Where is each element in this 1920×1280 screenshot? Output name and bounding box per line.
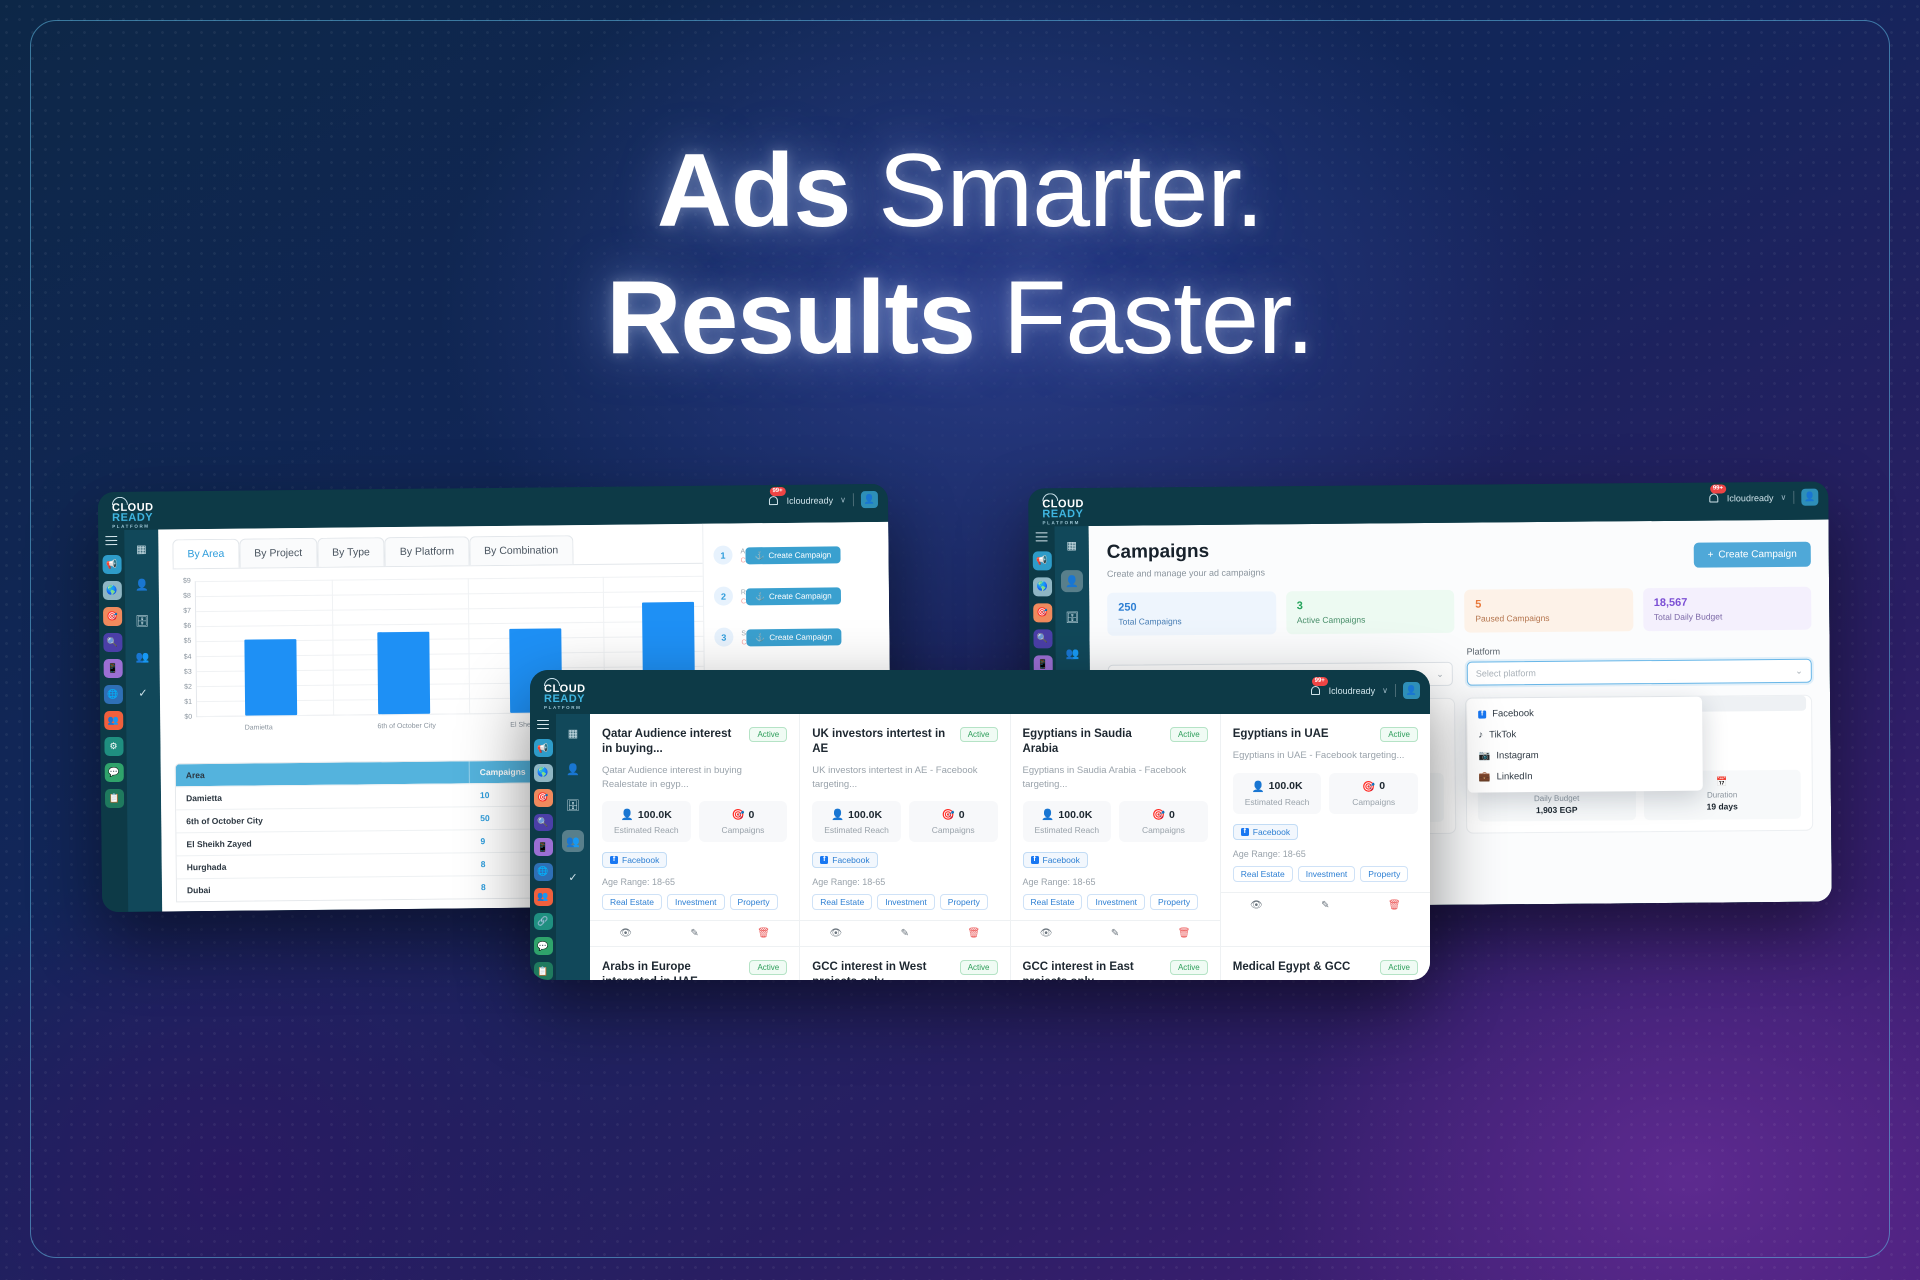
reach-value: 100.0K xyxy=(1269,780,1303,792)
suggestion-row: 2RCPL: $2.80-$4.20⚓Create Campaign xyxy=(714,585,879,606)
audience-tag[interactable]: Real Estate xyxy=(602,894,662,910)
sidebar-icon-audience-3[interactable]: 👥 xyxy=(534,888,553,906)
reach-value: 100.0K xyxy=(1058,809,1092,821)
y-tick-label: $4 xyxy=(184,653,192,660)
sidebar-icon-campaigns-3[interactable]: 📢 xyxy=(534,739,553,757)
audience-campaigns-stat: 🎯0Campaigns xyxy=(1329,773,1418,814)
audience-cards-row-1: Qatar Audience interest in buying...Acti… xyxy=(590,714,1430,946)
audiences-topbar: CLOUD READY PLATFORM 99+ Icloudready ∨ 👤 xyxy=(530,670,1430,714)
facebook-icon: f xyxy=(1478,710,1486,718)
status-badge: Active xyxy=(1380,727,1418,742)
audience-age-range: Age Range: 18-65 xyxy=(1233,849,1418,859)
platform-select[interactable]: Select platform ⌄ xyxy=(1467,659,1812,686)
view-icon[interactable]: 👁 xyxy=(619,928,632,939)
chevron-down-icon-platform: ⌄ xyxy=(1795,665,1803,676)
delete-icon[interactable]: 🗑 xyxy=(968,928,981,939)
rocket-icon: ⚓ xyxy=(755,592,765,601)
create-campaign-label: Create Campaign xyxy=(768,550,831,560)
audience-tag[interactable]: Real Estate xyxy=(812,894,872,910)
audience-title: Egyptians in Saudia Arabia xyxy=(1023,727,1164,757)
audience-platform-label: Facebook xyxy=(1043,855,1080,865)
campaigns-value: 0 xyxy=(1379,780,1385,792)
sidebar-icon-chat-3[interactable]: 💬 xyxy=(534,937,553,955)
status-badge: Active xyxy=(1170,960,1208,975)
campaigns-label: Campaigns xyxy=(913,825,994,835)
person-icon: 👤 xyxy=(1041,808,1054,821)
avatar-3[interactable]: 👤 xyxy=(1403,682,1420,699)
platform-option-label: Instagram xyxy=(1496,750,1538,761)
tiktok-icon: ♪ xyxy=(1478,730,1483,741)
chart-bar[interactable] xyxy=(245,639,298,716)
nav-icon-campaigns[interactable]: 👤 xyxy=(131,574,153,596)
stat-total-daily-budget: 18,567 Total Daily Budget xyxy=(1643,587,1812,631)
sidebar-icon-globe-3[interactable]: 🌐 xyxy=(534,863,553,881)
audience-title: Qatar Audience interest in buying... xyxy=(602,727,743,757)
person-icon: 👤 xyxy=(1252,780,1265,793)
plus-icon: + xyxy=(1708,550,1714,561)
table-cell: Hurghada xyxy=(177,853,471,878)
nav-icon-approvals[interactable]: ✓ xyxy=(132,682,154,704)
sidebar-icon-ads-3[interactable]: 🎯 xyxy=(534,789,553,807)
stat-label-budget: Total Daily Budget xyxy=(1654,611,1801,622)
platform-option-linkedin[interactable]: 💼LinkedIn xyxy=(1468,765,1703,788)
audience-description: UK investors intertest in AE - Facebook … xyxy=(812,764,997,791)
stat-paused-campaigns: 5 Paused Campaigns xyxy=(1464,588,1633,632)
reach-label: Estimated Reach xyxy=(1237,797,1318,807)
account-name-2: Icloudready xyxy=(1727,492,1774,502)
audience-card[interactable]: Arabs in Europe interested in UAE...Acti… xyxy=(590,947,800,980)
reach-value: 100.0K xyxy=(848,809,882,821)
audience-campaigns-stat: 🎯0Campaigns xyxy=(699,801,788,842)
audience-title: GCC interest in East projects only xyxy=(1023,960,1164,980)
reach-label: Estimated Reach xyxy=(1027,825,1108,835)
nav-icon-approvals-3[interactable]: ✓ xyxy=(562,866,584,888)
audience-tag[interactable]: Property xyxy=(1150,894,1198,910)
audience-reach-stat: 👤100.0KEstimated Reach xyxy=(812,801,901,842)
edit-icon[interactable]: ✎ xyxy=(1111,928,1119,939)
stat-value-paused: 5 xyxy=(1475,597,1622,610)
y-tick-label: $6 xyxy=(183,623,191,630)
sidebar-icon-reports[interactable]: 📋 xyxy=(104,789,123,808)
sidebar-icon-insights-3[interactable]: 🌎 xyxy=(534,764,553,782)
notification-bell-icon[interactable]: 99+ xyxy=(768,494,779,507)
audience-title: GCC interest in West projects only xyxy=(812,960,953,980)
table-cell: Dubai xyxy=(177,876,471,901)
chevron-down-icon[interactable]: ∨ xyxy=(840,495,846,504)
facebook-icon: f xyxy=(820,856,828,864)
delete-icon[interactable]: 🗑 xyxy=(1388,900,1401,911)
divider xyxy=(853,493,854,506)
x-tick-label: Damietta xyxy=(245,724,273,731)
analytics-topbar-right: 99+ Icloudready ∨ 👤 xyxy=(768,491,878,509)
nav-icon-campaigns-2[interactable]: 👤 xyxy=(1061,570,1083,592)
audience-card[interactable]: Qatar Audience interest in buying...Acti… xyxy=(590,714,800,946)
instagram-icon: 📷 xyxy=(1478,750,1490,761)
audience-description: Egyptians in Saudia Arabia - Facebook ta… xyxy=(1023,764,1208,791)
rocket-icon: ⚓ xyxy=(755,633,765,642)
status-badge: Active xyxy=(960,727,998,742)
suggestion-number: 2 xyxy=(714,587,733,606)
campaigns-label: Campaigns xyxy=(703,825,784,835)
audience-title: Arabs in Europe interested in UAE... xyxy=(602,960,743,980)
view-icon[interactable]: 👁 xyxy=(829,928,842,939)
suggestion-row: 1ACPL: $3.20-$4.05⚓Create Campaign xyxy=(713,544,878,565)
primary-sidebar-3: 📢 🌎 🎯 🔍 📱 🌐 👥 🔗 💬 📋 xyxy=(530,714,556,980)
stat-total-campaigns: 250 Total Campaigns xyxy=(1107,591,1276,635)
audience-platform-label: Facebook xyxy=(832,855,869,865)
sidebar-icon-settings[interactable]: ⚙ xyxy=(104,737,123,756)
audience-platform-chip: fFacebook xyxy=(1023,852,1088,868)
campaigns-value: 0 xyxy=(959,809,965,821)
avatar-2[interactable]: 👤 xyxy=(1801,489,1818,506)
create-campaign-button[interactable]: + Create Campaign xyxy=(1693,542,1810,568)
platform-option-tiktok[interactable]: ♪TikTok xyxy=(1467,723,1702,746)
logo-line-2-b: READY xyxy=(1042,509,1098,519)
sidebar-icon-chat[interactable]: 💬 xyxy=(104,763,123,782)
audience-reach-stat: 👤100.0KEstimated Reach xyxy=(1023,801,1112,842)
status-badge: Active xyxy=(1380,960,1418,975)
audience-platform-label: Facebook xyxy=(622,855,659,865)
stat-value-active: 3 xyxy=(1297,599,1444,612)
sidebar-icon-insights-2[interactable]: 🌎 xyxy=(1032,577,1051,596)
tab-by-combination[interactable]: By Combination xyxy=(469,535,573,565)
notification-bell-icon-3[interactable]: 99+ xyxy=(1311,684,1322,697)
y-tick-label: $0 xyxy=(184,714,192,721)
reach-label: Estimated Reach xyxy=(816,825,897,835)
hero-headline: Ads Smarter. Results Faster. xyxy=(0,128,1920,382)
edit-icon[interactable]: ✎ xyxy=(1321,900,1329,911)
edit-icon[interactable]: ✎ xyxy=(901,928,909,939)
audience-card[interactable]: Medical Egypt & GCCActiveMedical Egypt &… xyxy=(1221,947,1430,980)
sidebar-icon-campaigns-2[interactable]: 📢 xyxy=(1032,551,1051,570)
platform-option-label: TikTok xyxy=(1489,729,1516,740)
audiences-content: Qatar Audience interest in buying...Acti… xyxy=(590,714,1430,980)
audience-tag[interactable]: Real Estate xyxy=(1233,866,1293,882)
secondary-sidebar-3: ▦ 👤 🗄 👥 ✓ xyxy=(556,714,590,980)
audience-tag[interactable]: Investment xyxy=(1298,866,1356,882)
y-tick-label: $8 xyxy=(183,593,191,600)
tab-by-type[interactable]: By Type xyxy=(317,537,385,567)
duration-label: Duration xyxy=(1649,790,1795,800)
stat-active-campaigns: 3 Active Campaigns xyxy=(1286,590,1455,634)
audience-cards-row-2: Arabs in Europe interested in UAE...Acti… xyxy=(590,946,1430,980)
suggestion-number: 3 xyxy=(714,628,733,647)
nav-icon-audiences-2[interactable]: 👥 xyxy=(1062,642,1084,664)
audience-title: UK investors intertest in AE xyxy=(812,727,953,757)
table-cell: Damietta xyxy=(176,784,470,809)
create-campaign-button[interactable]: ⚓Create Campaign xyxy=(746,587,841,605)
primary-sidebar: 📢 🌎 🎯 🔍 📱 🌐 👥 ⚙ 💬 📋 xyxy=(98,530,128,912)
audience-card[interactable]: GCC interest in East projects onlyActive… xyxy=(1011,947,1221,980)
chevron-down-icon-status: ⌄ xyxy=(1436,668,1444,679)
stat-label-paused: Paused Campaigns xyxy=(1475,612,1622,623)
sidebar-icon-campaigns[interactable]: 📢 xyxy=(102,555,121,574)
person-icon: 👤 xyxy=(621,808,634,821)
audience-tag[interactable]: Real Estate xyxy=(1023,894,1083,910)
logo-line-3-c: PLATFORM xyxy=(544,704,600,711)
audience-tag[interactable]: Investment xyxy=(667,894,725,910)
nav-icon-dashboard[interactable]: ▦ xyxy=(130,538,152,560)
nav-icon-audiences[interactable]: 👥 xyxy=(131,646,153,668)
facebook-icon: f xyxy=(610,856,618,864)
logo-line-2: READY xyxy=(112,512,168,523)
headline-line-1: Ads Smarter. xyxy=(0,128,1920,255)
audience-platform-chip: fFacebook xyxy=(1233,824,1298,840)
delete-icon[interactable]: 🗑 xyxy=(1178,928,1191,939)
y-tick-label: $3 xyxy=(184,668,192,675)
notification-badge-2: 99+ xyxy=(1710,484,1726,493)
audience-tag[interactable]: Property xyxy=(1360,866,1408,882)
facebook-icon: f xyxy=(1241,828,1249,836)
logo-line-2-c: READY xyxy=(544,694,600,704)
menu-toggle-icon-3[interactable] xyxy=(537,720,549,729)
headline-bold-1: Ads xyxy=(657,133,850,249)
audience-card[interactable]: GCC interest in West projects onlyActive… xyxy=(800,947,1010,980)
create-campaign-button[interactable]: ⚓Create Campaign xyxy=(746,628,841,646)
audience-age-range: Age Range: 18-65 xyxy=(812,877,997,887)
audience-platform-label: Facebook xyxy=(1253,827,1290,837)
audience-age-range: Age Range: 18-65 xyxy=(1023,877,1208,887)
status-badge: Active xyxy=(1170,727,1208,742)
status-badge: Active xyxy=(749,727,787,742)
platform-option-label: LinkedIn xyxy=(1497,771,1533,782)
menu-toggle-icon[interactable] xyxy=(105,536,117,545)
delete-icon[interactable]: 🗑 xyxy=(757,928,770,939)
sidebar-icon-globe[interactable]: 🌐 xyxy=(103,685,122,704)
audiences-window: CLOUD READY PLATFORM 99+ Icloudready ∨ 👤… xyxy=(530,670,1430,980)
audience-tag[interactable]: Property xyxy=(940,894,988,910)
y-tick-label: $1 xyxy=(184,699,192,706)
platform-filter: Platform Select platform ⌄ fFacebook♪Tik… xyxy=(1467,644,1812,686)
notification-bell-icon-2[interactable]: 99+ xyxy=(1709,491,1720,504)
chevron-down-icon-2[interactable]: ∨ xyxy=(1780,493,1786,502)
daily-budget-label: Daily Budget xyxy=(1484,793,1630,803)
platform-dropdown[interactable]: fFacebook♪TikTok📷Instagram💼LinkedIn xyxy=(1467,697,1703,793)
audience-tag[interactable]: Property xyxy=(730,894,778,910)
col-header-area: Area xyxy=(176,761,470,786)
stat-label-active: Active Campaigns xyxy=(1297,614,1444,625)
status-filter-label xyxy=(1108,647,1453,660)
headline-bold-2: Results xyxy=(606,260,975,376)
target-icon: 🎯 xyxy=(731,808,744,821)
audience-card[interactable]: Egyptians in Saudia ArabiaActiveEgyptian… xyxy=(1011,714,1221,946)
linkedin-icon: 💼 xyxy=(1479,771,1491,782)
chart-y-axis: $9$8$7$6$5$4$3$2$1$0 xyxy=(173,581,194,717)
campaigns-label: Campaigns xyxy=(1123,825,1204,835)
suggestion-number: 1 xyxy=(713,546,732,565)
stat-value-total: 250 xyxy=(1118,600,1265,613)
secondary-sidebar: ▦ 👤 🗄 👥 ✓ xyxy=(124,530,162,912)
audience-card[interactable]: UK investors intertest in AEActiveUK inv… xyxy=(800,714,1010,946)
view-icon[interactable]: 👁 xyxy=(1040,928,1053,939)
sidebar-icon-insights[interactable]: 🌎 xyxy=(102,581,121,600)
table-cell: El Sheikh Zayed xyxy=(176,830,470,855)
audience-title: Medical Egypt & GCC xyxy=(1233,960,1351,975)
app-logo-3[interactable]: CLOUD READY PLATFORM xyxy=(544,678,600,711)
account-name-3: Icloudready xyxy=(1329,686,1376,696)
nav-icon-audiences-3[interactable]: 👥 xyxy=(562,830,584,852)
y-tick-label: $5 xyxy=(184,638,192,645)
sidebar-icon-mobile-3[interactable]: 📱 xyxy=(534,838,553,856)
campaign-stats: 250 Total Campaigns 3 Active Campaigns 5… xyxy=(1107,587,1811,636)
platform-filter-label: Platform xyxy=(1467,644,1812,657)
campaigns-label: Campaigns xyxy=(1333,797,1414,807)
tab-by-platform[interactable]: By Platform xyxy=(385,536,470,566)
y-tick-label: $9 xyxy=(183,578,191,585)
audience-reach-stat: 👤100.0KEstimated Reach xyxy=(1233,773,1322,814)
edit-icon[interactable]: ✎ xyxy=(690,928,698,939)
nav-icon-dashboard-3[interactable]: ▦ xyxy=(562,722,584,744)
app-logo[interactable]: CLOUD READY PLATFORM xyxy=(112,496,168,530)
facebook-icon: f xyxy=(1031,856,1039,864)
nav-icon-campaigns-3[interactable]: 👤 xyxy=(562,758,584,780)
reach-value: 100.0K xyxy=(638,809,672,821)
sidebar-icon-search-3[interactable]: 🔍 xyxy=(534,814,553,832)
campaigns-value: 0 xyxy=(749,809,755,821)
nav-icon-dashboard-2[interactable]: ▦ xyxy=(1061,534,1083,556)
stat-label-total: Total Campaigns xyxy=(1118,615,1265,626)
audience-platform-chip: fFacebook xyxy=(812,852,877,868)
sidebar-icon-ads-2[interactable]: 🎯 xyxy=(1033,603,1052,622)
divider-2 xyxy=(1793,491,1794,504)
person-icon: 👤 xyxy=(831,808,844,821)
audience-reach-stat: 👤100.0KEstimated Reach xyxy=(602,801,691,842)
create-campaign-button[interactable]: ⚓Create Campaign xyxy=(745,546,840,564)
platform-option-label: Facebook xyxy=(1492,708,1534,719)
status-badge: Active xyxy=(749,960,787,975)
sidebar-icon-mobile[interactable]: 📱 xyxy=(103,659,122,678)
chart-bar[interactable] xyxy=(377,632,430,714)
stat-value-budget: 18,567 xyxy=(1654,596,1801,609)
nav-icon-list-2[interactable]: 🗄 xyxy=(1061,606,1083,628)
platform-option-facebook[interactable]: fFacebook xyxy=(1467,702,1702,725)
sidebar-icon-ads[interactable]: 🎯 xyxy=(103,607,122,626)
chevron-down-icon-3[interactable]: ∨ xyxy=(1382,686,1388,695)
y-tick-label: $2 xyxy=(184,683,192,690)
campaigns-topbar-right: 99+ Icloudready ∨ 👤 xyxy=(1709,489,1819,507)
headline-rest-1: Smarter. xyxy=(850,133,1263,249)
status-badge: Active xyxy=(960,960,998,975)
table-cell: 6th of October City xyxy=(176,807,470,832)
menu-toggle-icon-2[interactable] xyxy=(1036,532,1048,541)
create-campaign-label: Create Campaign xyxy=(769,591,832,601)
sidebar-icon-audience[interactable]: 👥 xyxy=(104,711,123,730)
divider-3 xyxy=(1395,684,1396,697)
audience-description: Egyptians in UAE - Facebook targeting... xyxy=(1233,749,1418,763)
tab-by-project[interactable]: By Project xyxy=(239,538,317,568)
daily-budget-value: 1,903 EGP xyxy=(1484,804,1630,815)
view-icon[interactable]: 👁 xyxy=(1250,900,1263,911)
audience-card[interactable]: Egyptians in UAEActiveEgyptians in UAE -… xyxy=(1221,714,1430,946)
nav-icon-list[interactable]: 🗄 xyxy=(131,610,153,632)
suggestion-row: 3SCPL: $3.32-$6.06⚓Create Campaign xyxy=(714,626,879,647)
notification-badge-3: 99+ xyxy=(1312,677,1328,686)
app-logo-2[interactable]: CLOUD READY PLATFORM xyxy=(1042,493,1098,526)
create-campaign-label: Create Campaign xyxy=(1718,549,1796,561)
headline-line-2: Results Faster. xyxy=(0,255,1920,382)
audience-tag[interactable]: Investment xyxy=(1087,894,1145,910)
audience-campaigns-stat: 🎯0Campaigns xyxy=(1119,801,1208,842)
nav-icon-list-3[interactable]: 🗄 xyxy=(562,794,584,816)
target-icon: 🎯 xyxy=(1362,780,1375,793)
audience-title: Egyptians in UAE xyxy=(1233,727,1329,742)
sidebar-icon-search[interactable]: 🔍 xyxy=(103,633,122,652)
tab-by-area[interactable]: By Area xyxy=(172,539,239,569)
y-tick-label: $7 xyxy=(183,608,191,615)
account-name: Icloudready xyxy=(787,495,834,505)
create-campaign-label: Create Campaign xyxy=(769,632,832,642)
reach-label: Estimated Reach xyxy=(606,825,687,835)
sidebar-icon-search-2[interactable]: 🔍 xyxy=(1033,629,1052,648)
audience-age-range: Age Range: 18-65 xyxy=(602,877,787,887)
platform-select-placeholder: Select platform xyxy=(1476,668,1536,679)
avatar[interactable]: 👤 xyxy=(861,491,878,508)
duration-value: 19 days xyxy=(1649,801,1795,812)
sidebar-icon-integrations-3[interactable]: 🔗 xyxy=(534,913,553,931)
x-tick-label: 6th of October City xyxy=(377,723,435,731)
audiences-topbar-right: 99+ Icloudready ∨ 👤 xyxy=(1311,682,1420,699)
rocket-icon: ⚓ xyxy=(754,551,764,560)
audience-description: Qatar Audience interest in buying Reales… xyxy=(602,764,787,791)
audience-platform-chip: fFacebook xyxy=(602,852,667,868)
campaigns-value: 0 xyxy=(1169,809,1175,821)
notification-badge: 99+ xyxy=(769,487,785,496)
audience-campaigns-stat: 🎯0Campaigns xyxy=(909,801,998,842)
target-icon: 🎯 xyxy=(942,808,955,821)
target-icon: 🎯 xyxy=(1152,808,1165,821)
audience-tag[interactable]: Investment xyxy=(877,894,935,910)
platform-option-instagram[interactable]: 📷Instagram xyxy=(1467,744,1702,767)
headline-rest-2: Faster. xyxy=(975,260,1314,376)
